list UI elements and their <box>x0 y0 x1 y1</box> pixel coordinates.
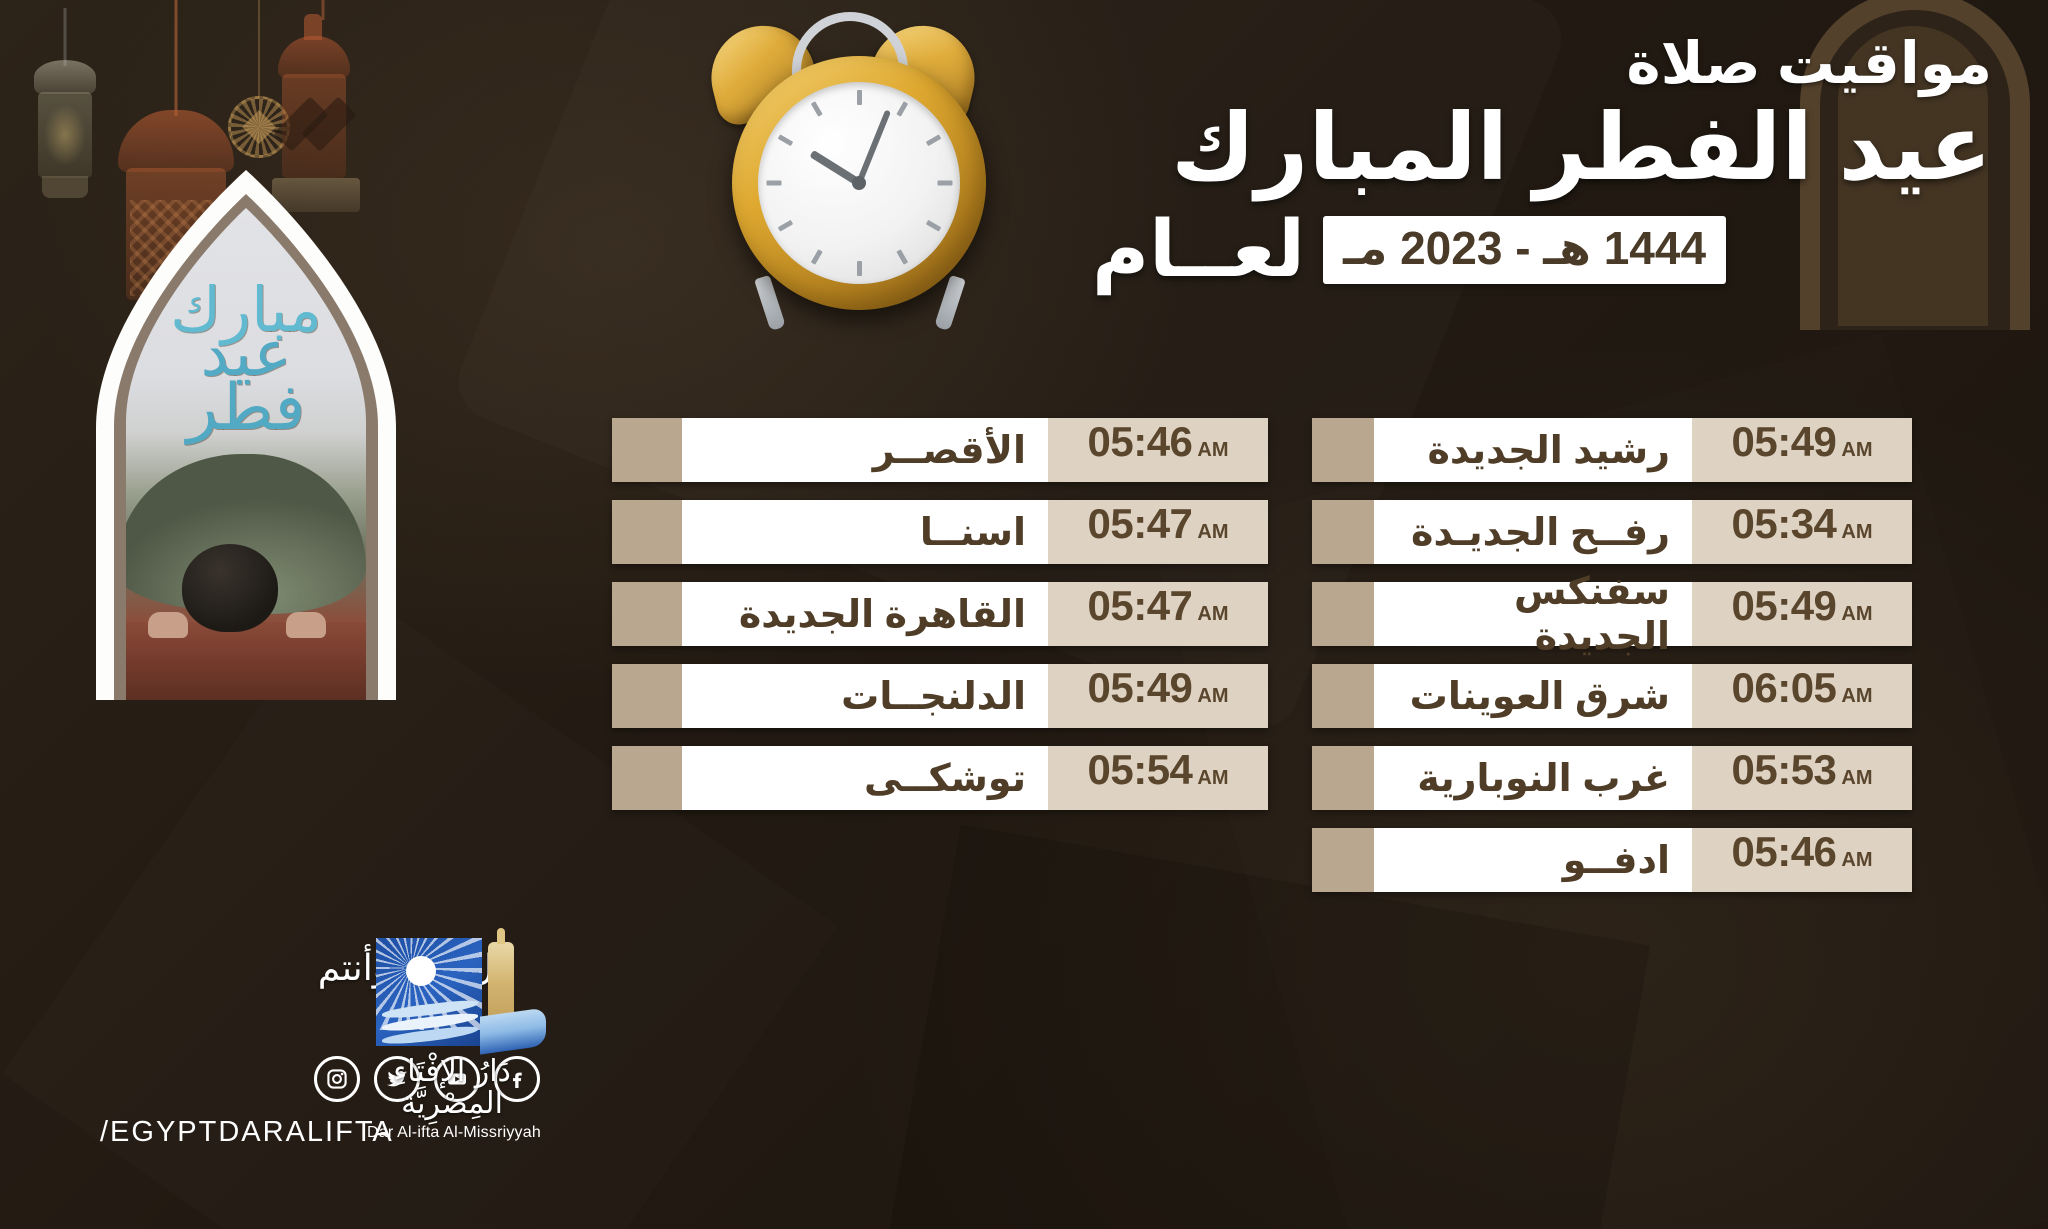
city-name: رفــح الجديـدة <box>1374 500 1692 564</box>
city-name: توشكــى <box>682 746 1048 810</box>
time-meridiem: AM <box>1197 439 1228 465</box>
row-accent-block <box>612 582 682 646</box>
time-meridiem: AM <box>1197 521 1228 547</box>
clock-minute-hand <box>856 110 891 185</box>
title-line-3: لعــام <box>1092 204 1305 295</box>
prayer-time-row: رشيد الجديدة05:49AM <box>1312 418 1912 482</box>
prayer-times-left-column: الأقصــر05:46AMاسنــا05:47AMالقاهرة الجد… <box>612 418 1268 828</box>
prayer-time-row: توشكــى05:54AM <box>612 746 1268 810</box>
clock-tick <box>857 261 862 276</box>
prayer-time-row: الأقصــر05:46AM <box>612 418 1268 482</box>
title-line-1: مواقيت صلاة <box>1092 34 1992 95</box>
time-hhmm: 05:46 <box>1731 828 1836 876</box>
prayer-time-row: رفــح الجديـدة05:34AM <box>1312 500 1912 564</box>
prayer-time-row: ادفــو05:46AM <box>1312 828 1912 892</box>
prayer-time-value: 05:46AM <box>1692 828 1912 892</box>
prayer-time-row: شرق العوينات06:05AM <box>1312 664 1912 728</box>
city-name: سفنكس الجديدة <box>1374 582 1692 646</box>
time-meridiem: AM <box>1841 685 1872 711</box>
prayer-time-value: 05:54AM <box>1048 746 1268 810</box>
prayer-time-row: القاهرة الجديدة05:47AM <box>612 582 1268 646</box>
prayer-time-value: 05:34AM <box>1692 500 1912 564</box>
city-name: الأقصــر <box>682 418 1048 482</box>
clock-tick <box>777 134 792 146</box>
logo-emblem <box>376 938 482 1046</box>
clock-tick <box>937 181 952 186</box>
time-hhmm: 05:49 <box>1731 418 1836 466</box>
prayer-time-value: 05:47AM <box>1048 582 1268 646</box>
city-name: القاهرة الجديدة <box>682 582 1048 646</box>
time-hhmm: 06:05 <box>1731 664 1836 712</box>
clock-tick <box>896 101 908 116</box>
time-hhmm: 05:49 <box>1731 582 1836 630</box>
prayer-time-value: 05:53AM <box>1692 746 1912 810</box>
prayer-times-right-column: رشيد الجديدة05:49AMرفــح الجديـدة05:34AM… <box>1312 418 1912 910</box>
clock-tick <box>810 249 822 264</box>
sun-icon <box>406 956 436 986</box>
time-meridiem: AM <box>1841 521 1872 547</box>
time-meridiem: AM <box>1197 767 1228 793</box>
alarm-clock-icon <box>700 18 1030 348</box>
city-name: الدلنجــات <box>682 664 1048 728</box>
time-hhmm: 05:49 <box>1087 664 1192 712</box>
city-name: ادفــو <box>1374 828 1692 892</box>
clock-tick <box>925 134 940 146</box>
prayer-time-value: 06:05AM <box>1692 664 1912 728</box>
row-accent-block <box>612 746 682 810</box>
time-meridiem: AM <box>1197 685 1228 711</box>
prayer-time-row: غرب النوبارية05:53AM <box>1312 746 1912 810</box>
prayer-time-row: سفنكس الجديدة05:49AM <box>1312 582 1912 646</box>
clock-face <box>758 82 960 284</box>
arch-photo-frame: مبارك عيد فطر <box>96 170 396 700</box>
clock-tick <box>857 90 862 105</box>
clock-leg-right <box>934 275 966 331</box>
time-hhmm: 05:54 <box>1087 746 1192 794</box>
prayer-time-value: 05:47AM <box>1048 500 1268 564</box>
prayer-time-value: 05:49AM <box>1048 664 1268 728</box>
ribbon-shape <box>480 1007 546 1054</box>
logo-arabic-name: دَارُ الإفْتَاءِ المِصْرِيَّة <box>372 1056 532 1119</box>
instagram-icon[interactable] <box>314 1056 360 1102</box>
row-accent-block <box>1312 664 1374 728</box>
dar-alifta-logo: دَارُ الإفْتَاءِ المِصْرِيَّة Dar Al-ift… <box>376 938 546 1138</box>
clock-body <box>732 56 986 310</box>
poster-canvas: مبارك عيد فطر مواقيت صلاة عيد الفطر المب… <box>0 0 2048 1229</box>
praying-person-hand-right <box>286 612 326 638</box>
row-accent-block <box>612 500 682 564</box>
praying-person-head <box>182 544 278 632</box>
time-hhmm: 05:46 <box>1087 418 1192 466</box>
praying-person-hand-left <box>148 612 188 638</box>
time-meridiem: AM <box>1841 603 1872 629</box>
title-line-2: عيد الفطر المبارك <box>1092 99 1992 198</box>
prayer-time-value: 05:49AM <box>1692 582 1912 646</box>
row-accent-block <box>612 418 682 482</box>
row-accent-block <box>1312 746 1374 810</box>
time-meridiem: AM <box>1841 439 1872 465</box>
city-name: شرق العوينات <box>1374 664 1692 728</box>
row-accent-block <box>1312 500 1374 564</box>
clock-tick <box>777 220 792 232</box>
prayer-time-value: 05:49AM <box>1692 418 1912 482</box>
clock-tick <box>766 181 781 186</box>
clock-tick <box>810 101 822 116</box>
logo-english-name: Dar Al-ifta Al-Missriyyah <box>366 1124 542 1142</box>
time-hhmm: 05:34 <box>1731 500 1836 548</box>
prayer-time-value: 05:46AM <box>1048 418 1268 482</box>
clock-tick <box>925 220 940 232</box>
time-meridiem: AM <box>1197 603 1228 629</box>
time-meridiem: AM <box>1841 767 1872 793</box>
prayer-time-row: اسنــا05:47AM <box>612 500 1268 564</box>
city-name: رشيد الجديدة <box>1374 418 1692 482</box>
title-year-row: لعــام 1444 هـ - 2023 مـ <box>1092 204 1992 295</box>
row-accent-block <box>1312 418 1374 482</box>
city-name: اسنــا <box>682 500 1048 564</box>
row-accent-block <box>1312 582 1374 646</box>
city-name: غرب النوبارية <box>1374 746 1692 810</box>
year-badge: 1444 هـ - 2023 مـ <box>1323 216 1726 284</box>
time-meridiem: AM <box>1841 849 1872 875</box>
time-hhmm: 05:47 <box>1087 582 1192 630</box>
time-hhmm: 05:47 <box>1087 500 1192 548</box>
row-accent-block <box>1312 828 1374 892</box>
row-accent-block <box>612 664 682 728</box>
clock-tick <box>896 249 908 264</box>
prayer-time-row: الدلنجــات05:49AM <box>612 664 1268 728</box>
clock-center-pin <box>852 176 866 190</box>
title-block: مواقيت صلاة عيد الفطر المبارك لعــام 144… <box>1092 34 1992 295</box>
time-hhmm: 05:53 <box>1731 746 1836 794</box>
